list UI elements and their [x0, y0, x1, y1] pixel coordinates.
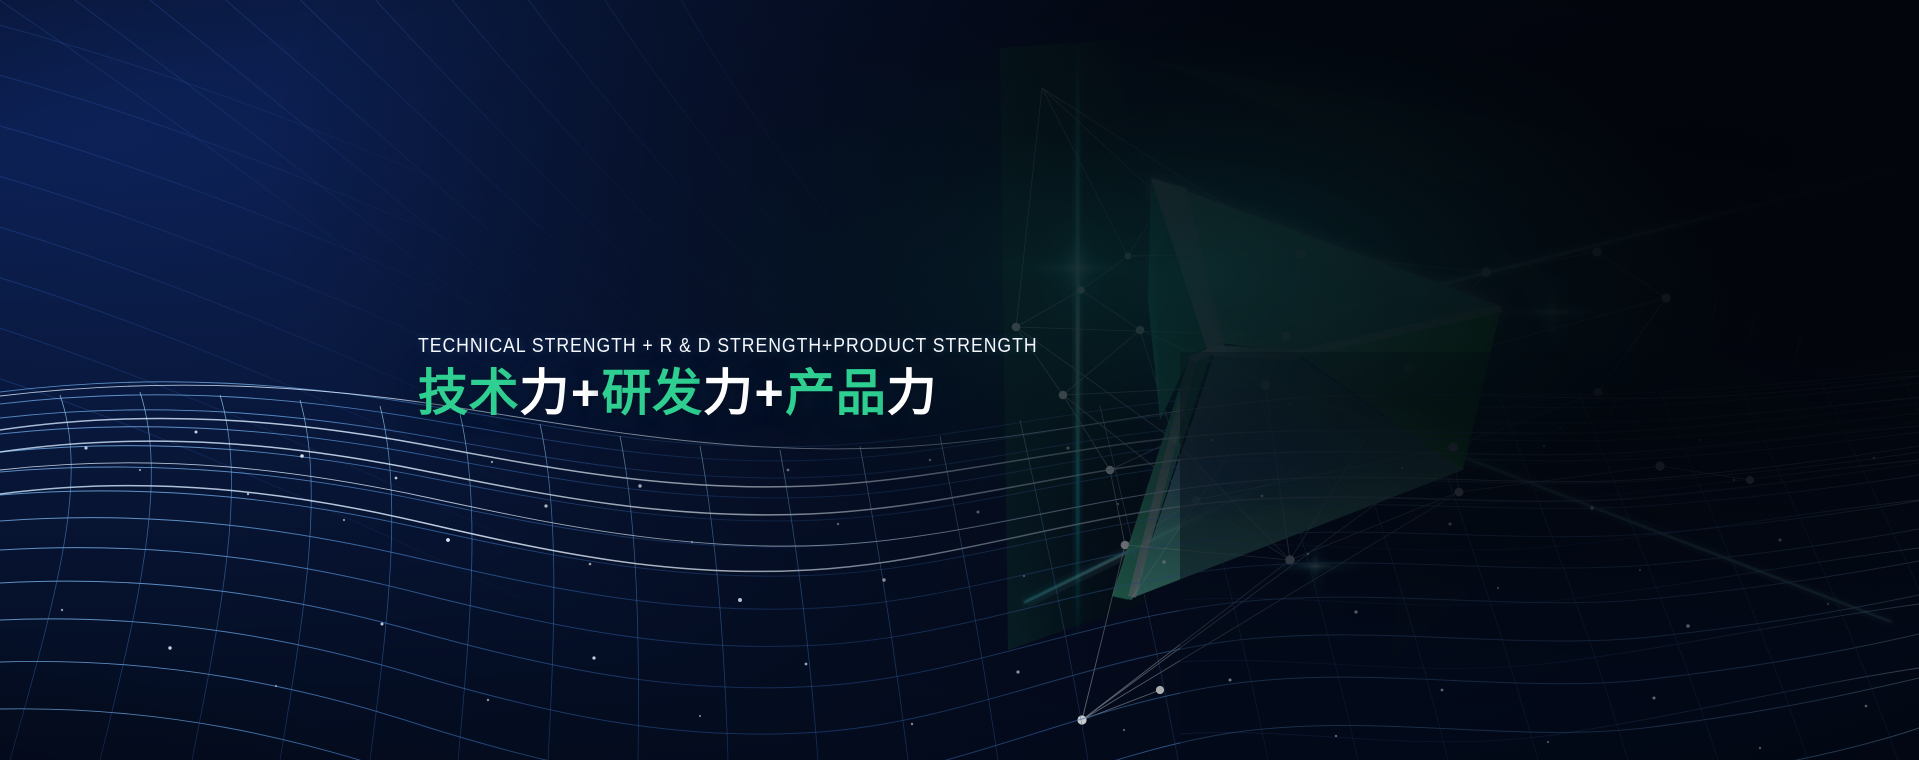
headline-eyebrow-english: TECHNICAL STRENGTH + R & D STRENGTH+PROD…: [418, 336, 968, 357]
hero-banner: TECHNICAL STRENGTH + R & D STRENGTH+PROD…: [0, 0, 1919, 760]
headline-title-chinese: 技术力+研发力+产品力: [418, 368, 1058, 419]
title-segment-1: 力: [519, 365, 570, 421]
title-segment-4: 力: [703, 365, 754, 421]
title-segment-2: +: [570, 365, 602, 421]
title-segment-3: 研发: [602, 365, 703, 421]
title-segment-5: +: [753, 365, 785, 421]
headline-block: TECHNICAL STRENGTH + R & D STRENGTH+PROD…: [418, 336, 1058, 419]
title-segment-7: 力: [886, 365, 937, 421]
title-segment-0: 技术: [418, 365, 519, 421]
title-segment-6: 产品: [785, 365, 886, 421]
